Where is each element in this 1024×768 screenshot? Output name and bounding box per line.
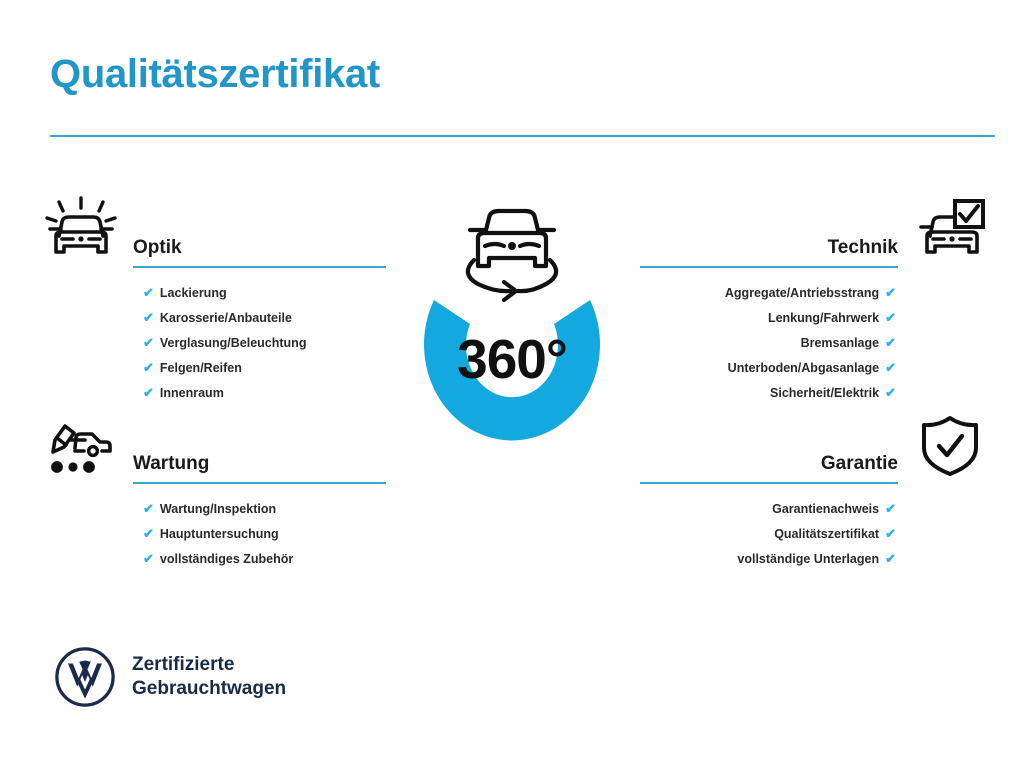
list-item: Garantienachweis✔ bbox=[640, 497, 898, 522]
list-item-label: Karosserie/Anbauteile bbox=[160, 311, 292, 325]
section-heading-optik: Optik bbox=[133, 196, 386, 257]
car-front-shine-icon bbox=[45, 196, 117, 264]
list-item-label: Bremsanlage bbox=[801, 336, 880, 350]
list-item: ✔Wartung/Inspektion bbox=[133, 497, 386, 522]
list-item-label: Wartung/Inspektion bbox=[160, 502, 276, 516]
page-title: Qualitätszertifikat bbox=[50, 52, 380, 97]
list-item: Unterboden/Abgasanlage✔ bbox=[640, 356, 898, 381]
list-item-label: Felgen/Reifen bbox=[160, 361, 242, 375]
list-item-label: Garantienachweis bbox=[772, 502, 879, 516]
list-item-label: Verglasung/Beleuchtung bbox=[160, 336, 307, 350]
list-item: ✔Hauptuntersuchung bbox=[133, 522, 386, 547]
list-item: ✔Lackierung bbox=[133, 281, 386, 306]
list-item-label: Hauptuntersuchung bbox=[160, 527, 279, 541]
check-icon: ✔ bbox=[143, 360, 154, 375]
list-item-label: vollständige Unterlagen bbox=[737, 552, 879, 566]
list-item-label: Qualitätszertifikat bbox=[774, 527, 879, 541]
brand-text: Zertifizierte Gebrauchtwagen bbox=[132, 653, 286, 702]
list-item: ✔Verglasung/Beleuchtung bbox=[133, 331, 386, 356]
brand-line-1: Zertifizierte bbox=[132, 653, 286, 677]
section-heading-technik: Technik bbox=[640, 196, 898, 257]
brand-line-2: Gebrauchtwagen bbox=[132, 677, 286, 701]
check-icon: ✔ bbox=[143, 310, 154, 325]
checklist-technik: Aggregate/Antriebsstrang✔ Lenkung/Fahrwe… bbox=[640, 268, 898, 406]
checklist-garantie: Garantienachweis✔ Qualitätszertifikat✔ v… bbox=[640, 484, 898, 572]
list-item-label: Unterboden/Abgasanlage bbox=[728, 361, 879, 375]
section-heading-wartung: Wartung bbox=[133, 412, 386, 473]
list-item: ✔Felgen/Reifen bbox=[133, 356, 386, 381]
check-icon: ✔ bbox=[885, 526, 896, 541]
list-item: ✔vollständiges Zubehör bbox=[133, 547, 386, 572]
list-item-label: vollständiges Zubehör bbox=[160, 552, 293, 566]
footer-brand: Zertifizierte Gebrauchtwagen bbox=[54, 646, 286, 708]
car-front-checkbox-icon bbox=[914, 196, 986, 264]
badge-360-gebrauchtwagen-check: Gebrauchtwagen-Check 360° bbox=[382, 192, 642, 492]
check-icon: ✔ bbox=[143, 526, 154, 541]
list-item-label: Aggregate/Antriebsstrang bbox=[725, 286, 879, 300]
list-item: ✔Innenraum bbox=[133, 381, 386, 406]
list-item: Qualitätszertifikat✔ bbox=[640, 522, 898, 547]
check-icon: ✔ bbox=[143, 335, 154, 350]
check-icon: ✔ bbox=[885, 285, 896, 300]
check-icon: ✔ bbox=[885, 360, 896, 375]
vw-logo-icon bbox=[54, 646, 116, 708]
list-item-label: Sicherheit/Elektrik bbox=[770, 386, 879, 400]
checklist-wartung: ✔Wartung/Inspektion ✔Hauptuntersuchung ✔… bbox=[133, 484, 386, 572]
check-icon: ✔ bbox=[143, 551, 154, 566]
check-icon: ✔ bbox=[885, 335, 896, 350]
check-icon: ✔ bbox=[885, 385, 896, 400]
check-icon: ✔ bbox=[885, 501, 896, 516]
check-icon: ✔ bbox=[143, 285, 154, 300]
list-item-label: Innenraum bbox=[160, 386, 224, 400]
section-heading-garantie: Garantie bbox=[640, 412, 898, 473]
list-item: Lenkung/Fahrwerk✔ bbox=[640, 306, 898, 331]
badge-center-label: 360° bbox=[382, 332, 642, 387]
list-item: ✔Karosserie/Anbauteile bbox=[133, 306, 386, 331]
check-icon: ✔ bbox=[143, 385, 154, 400]
list-item: Bremsanlage✔ bbox=[640, 331, 898, 356]
pen-car-service-icon bbox=[45, 412, 117, 480]
car-rotate-360-icon bbox=[468, 211, 556, 300]
checklist-optik: ✔Lackierung ✔Karosserie/Anbauteile ✔Verg… bbox=[133, 268, 386, 406]
shield-check-icon bbox=[914, 412, 986, 480]
list-item: Sicherheit/Elektrik✔ bbox=[640, 381, 898, 406]
check-icon: ✔ bbox=[885, 551, 896, 566]
list-item-label: Lackierung bbox=[160, 286, 227, 300]
header-divider bbox=[50, 135, 995, 137]
check-icon: ✔ bbox=[143, 501, 154, 516]
check-icon: ✔ bbox=[885, 310, 896, 325]
list-item: Aggregate/Antriebsstrang✔ bbox=[640, 281, 898, 306]
list-item-label: Lenkung/Fahrwerk bbox=[768, 311, 879, 325]
list-item: vollständige Unterlagen✔ bbox=[640, 547, 898, 572]
